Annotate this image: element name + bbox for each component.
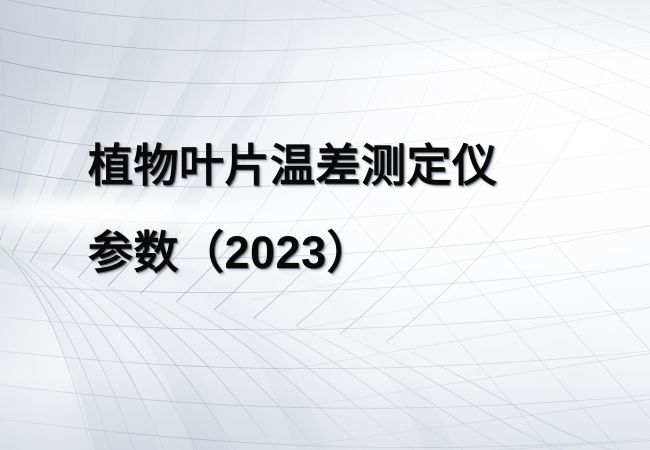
title-block: 植物叶片温差测定仪 参数（2023） [88, 122, 628, 296]
title-line-1: 植物叶片温差测定仪 [88, 122, 628, 209]
title-line-2: 参数（2023） [88, 209, 628, 296]
title-slide: 植物叶片温差测定仪 参数（2023） [0, 0, 650, 450]
